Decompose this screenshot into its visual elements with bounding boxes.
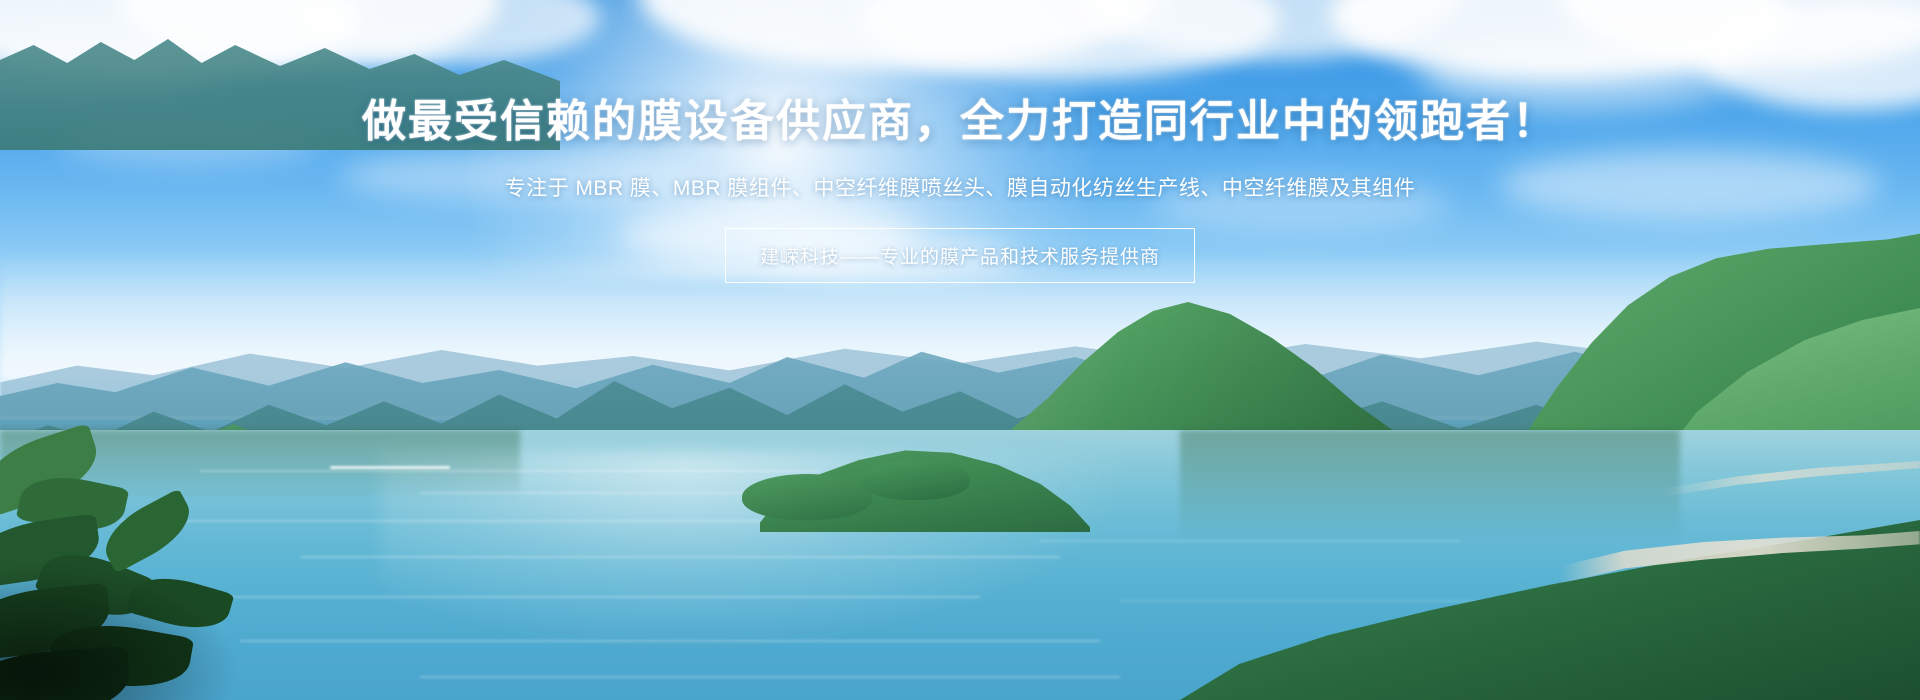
foliage-shadow <box>0 560 240 700</box>
water-ripple <box>240 640 1100 642</box>
water-ripple <box>200 470 820 472</box>
water-ripple <box>1120 600 1500 602</box>
banner-tagline-box: 建嵘科技——专业的膜产品和技术服务提供商 <box>725 228 1195 283</box>
islet <box>742 474 872 520</box>
water-ripple <box>300 556 1060 558</box>
cloud <box>1500 150 1880 220</box>
banner-tagline: 建嵘科技——专业的膜产品和技术服务提供商 <box>760 242 1160 269</box>
shoreline-reflection-right <box>1180 430 1680 540</box>
hero-banner: 做最受信赖的膜设备供应商，全力打造同行业中的领跑者！ 专注于 MBR 膜、MBR… <box>0 0 1920 700</box>
water-ripple <box>420 676 1120 678</box>
boat-wake <box>330 466 450 469</box>
banner-subtitle: 专注于 MBR 膜、MBR 膜组件、中空纤维膜喷丝头、膜自动化纺丝生产线、中空纤… <box>505 172 1416 202</box>
islet <box>860 460 970 500</box>
banner-headline: 做最受信赖的膜设备供应商，全力打造同行业中的领跑者！ <box>362 98 1558 146</box>
water-ripple <box>1040 540 1460 542</box>
